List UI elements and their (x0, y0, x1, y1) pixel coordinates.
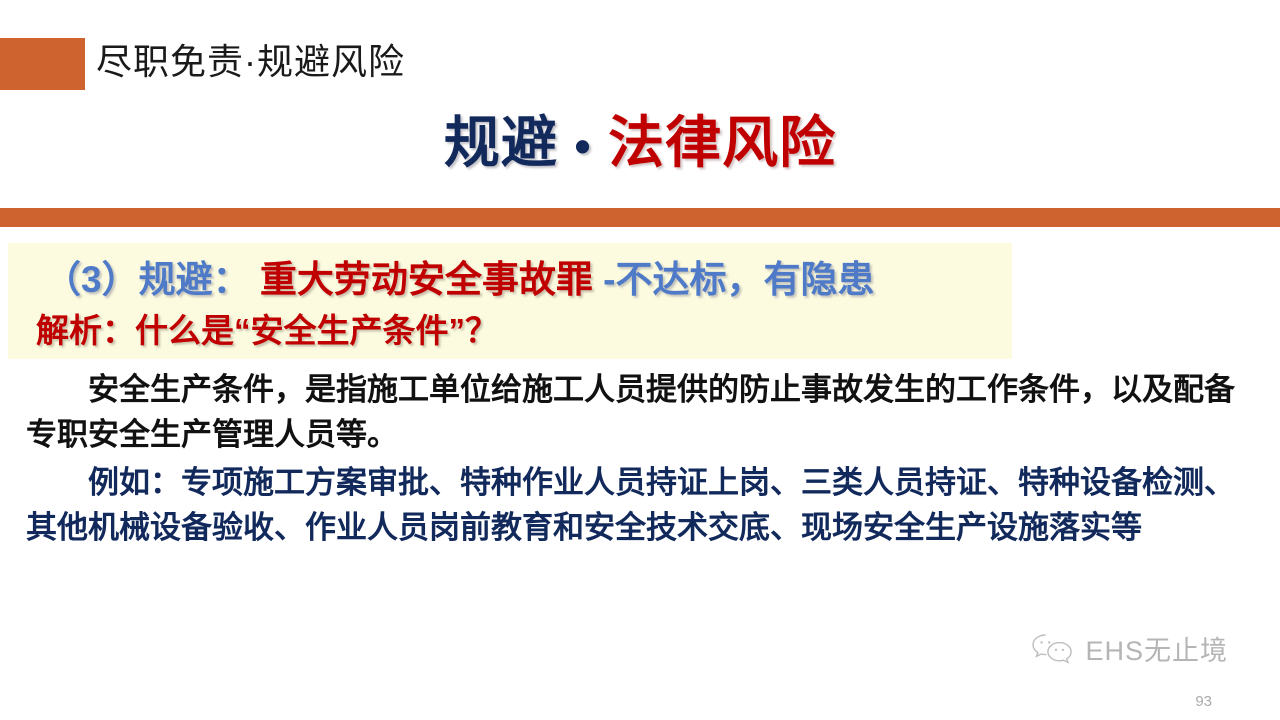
header-title: 尽职免责·规避风险 (96, 36, 405, 88)
page-title: 规避 • 法律风险 (0, 108, 1280, 181)
highlight-line1-prefix: （3）规避： (44, 259, 250, 300)
highlight-line-1: （3）规避： 重大劳动安全事故罪 -不达标，有隐患 (44, 258, 874, 302)
body-paragraph-definition: 安全生产条件，是指施工单位给施工人员提供的防止事故发生的工作条件，以及配备专职安… (26, 367, 1256, 457)
watermark-label: EHS无止境 (1085, 629, 1228, 668)
page-title-part-navy: 规避 (444, 111, 558, 174)
highlight-line1-emphasis: 重大劳动安全事故罪 (260, 259, 593, 300)
page-number: 93 (1195, 693, 1212, 710)
header-accent-block (0, 38, 85, 90)
page-title-separator: • (574, 120, 591, 172)
section-divider (0, 208, 1280, 227)
body-paragraph-examples: 例如：专项施工方案审批、特种作业人员持证上岗、三类人员持证、特种设备检测、其他机… (26, 460, 1256, 550)
slide-canvas: 尽职免责·规避风险 规避 • 法律风险 （3）规避： 重大劳动安全事故罪 -不达… (0, 0, 1280, 720)
wechat-icon (1030, 632, 1076, 666)
highlight-line-2: 解析：什么是“安全生产条件”？ (36, 310, 498, 352)
highlight-line1-suffix: -不达标，有隐患 (603, 259, 874, 300)
page-title-part-red: 法律风险 (608, 111, 836, 174)
watermark: EHS无止境 (1030, 629, 1228, 668)
